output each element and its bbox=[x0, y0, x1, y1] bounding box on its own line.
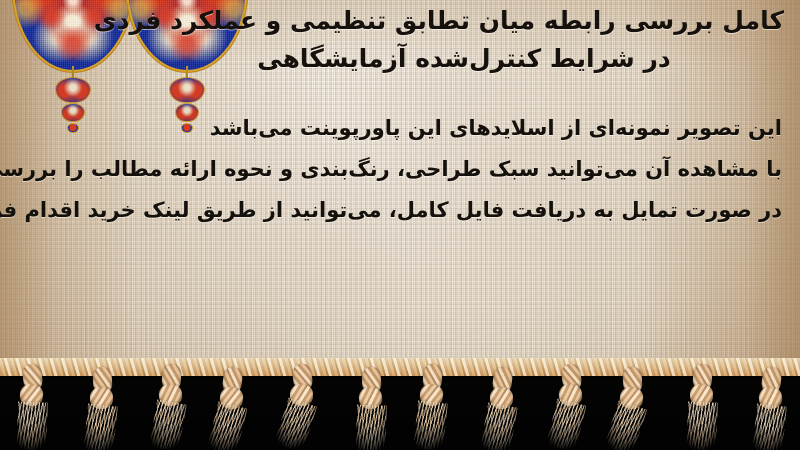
tassel-strands bbox=[413, 400, 448, 450]
carpet-fringe-band bbox=[0, 358, 800, 450]
fringe-tassel bbox=[418, 364, 448, 448]
body-line-2: با مشاهده آن می‌توانید سبک طراحی، رنگ‌بن… bbox=[14, 149, 782, 190]
slide-title: کامل بررسی رابطه میان تطابق تنظیمی و عمل… bbox=[144, 2, 784, 78]
fringe-tassel bbox=[757, 367, 787, 450]
fringe-tassel bbox=[218, 367, 248, 450]
fringe-tassel bbox=[618, 367, 648, 450]
tassel-strands bbox=[546, 398, 587, 450]
tassel-strands bbox=[752, 403, 787, 450]
medallion-pendant-large bbox=[56, 78, 90, 102]
fringe-tassel bbox=[357, 367, 387, 450]
tassel-strands bbox=[83, 403, 118, 450]
body-line-1: این تصویر نمونه‌ای از اسلایدهای این پاور… bbox=[14, 108, 782, 149]
fringe-selvage-rope bbox=[0, 358, 800, 376]
fringe-tassel bbox=[488, 367, 518, 450]
fringe-tassel bbox=[688, 364, 718, 448]
tassel-strands bbox=[356, 404, 388, 450]
tassel-strands bbox=[207, 401, 248, 450]
tassel-strands bbox=[149, 399, 187, 450]
tassel-strands bbox=[274, 397, 317, 450]
tassel-strands bbox=[604, 400, 647, 450]
slide-canvas: کامل بررسی رابطه میان تطابق تنظیمی و عمل… bbox=[0, 0, 800, 450]
tassel-strands bbox=[480, 402, 518, 450]
title-line-1: کامل بررسی رابطه میان تطابق تنظیمی و عمل… bbox=[144, 2, 784, 40]
tassel-strands bbox=[16, 401, 48, 450]
fringe-tassel bbox=[288, 364, 318, 448]
fringe-tassel bbox=[557, 364, 587, 448]
fringe-tassel bbox=[157, 364, 187, 448]
title-line-2: در شرایط کنترل‌شده آزمایشگاهی bbox=[144, 40, 784, 78]
medallion-pendant-large bbox=[170, 78, 204, 102]
fringe-tassel bbox=[88, 367, 118, 450]
slide-body-text: این تصویر نمونه‌ای از اسلایدهای این پاور… bbox=[14, 108, 782, 231]
fringe-tassel bbox=[18, 364, 48, 448]
tassel-strands bbox=[686, 401, 718, 450]
body-line-3: در صورت تمایل به دریافت فایل کامل، می‌تو… bbox=[14, 190, 782, 231]
